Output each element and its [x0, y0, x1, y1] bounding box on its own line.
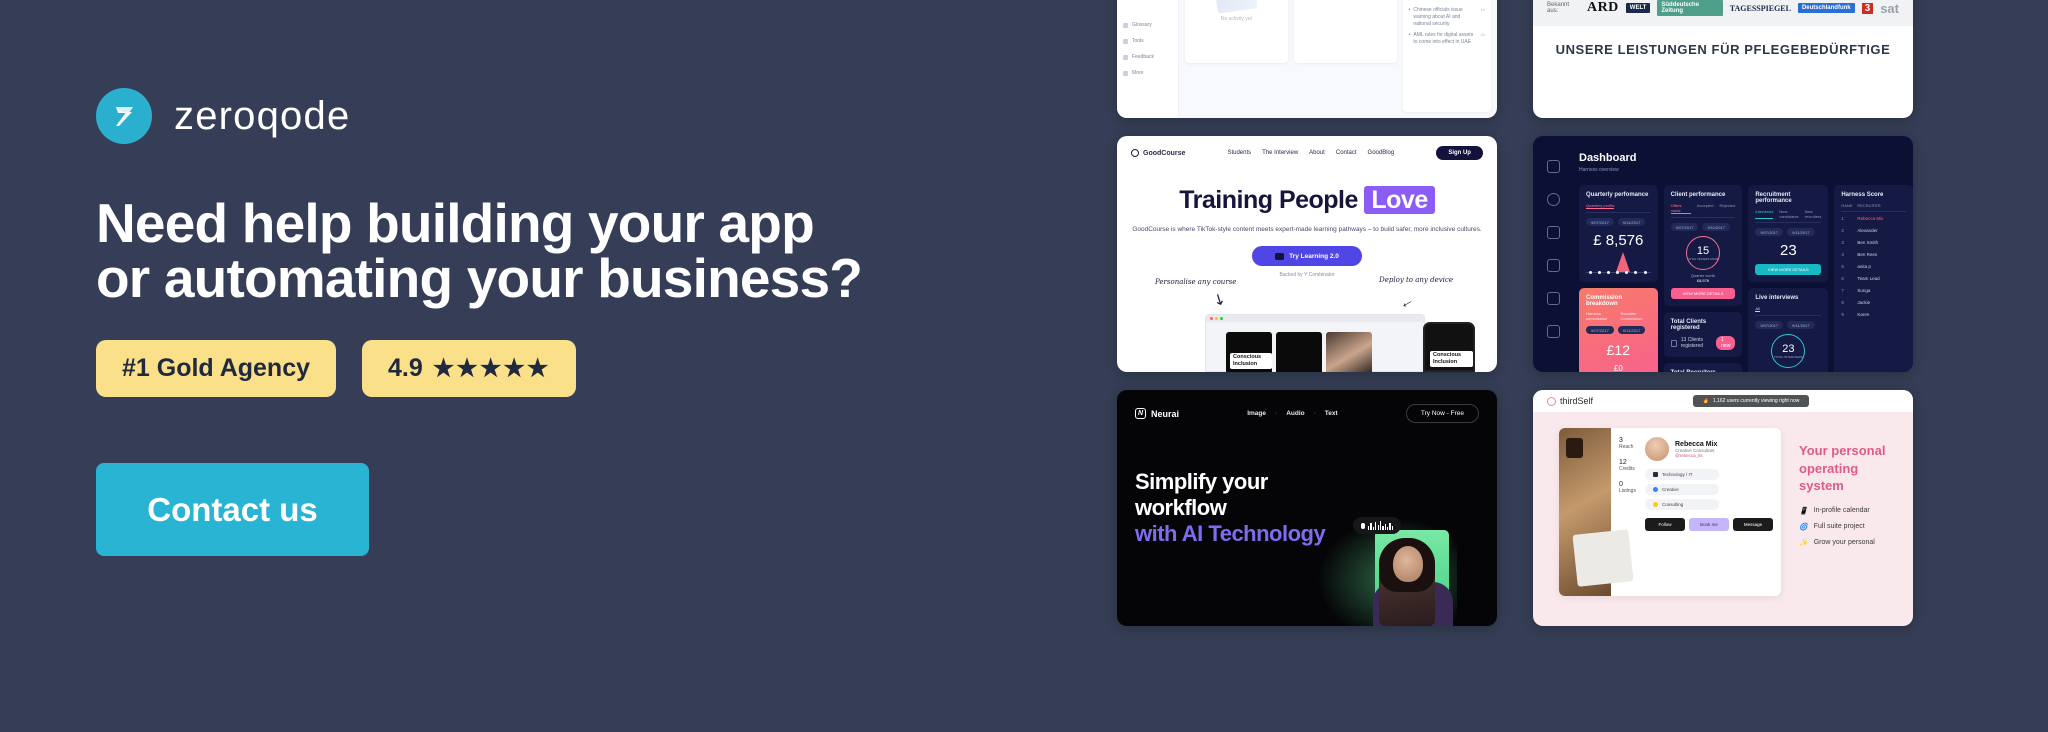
peak-shape	[1616, 252, 1630, 272]
try-learning-button[interactable]: Try Learning 2.0	[1252, 246, 1362, 266]
press-label: Bekannt aus:	[1547, 2, 1580, 14]
circle-logo-icon	[1131, 149, 1139, 157]
people-icon[interactable]	[1547, 292, 1560, 305]
nav-audio[interactable]: Audio	[1286, 410, 1304, 417]
audio-waveform-chip	[1353, 517, 1401, 534]
column-recruiter: RECRUITER	[1857, 203, 1880, 208]
sparkline-chart	[1586, 253, 1651, 275]
slide-card-text	[1276, 332, 1322, 372]
slide-card: Conscious Inclusion	[1226, 332, 1272, 372]
profile-info: 3Reach 12Credits 0Listings Rebecca Mix C…	[1611, 428, 1781, 596]
stat-reach: 3Reach	[1619, 437, 1643, 450]
dashboard-subtitle: Harness overview	[1579, 167, 1913, 173]
view-more-details-button[interactable]: VIEW MORE DETAILS	[1755, 264, 1821, 275]
offers-ring-chart: 15TOTAL OFFERS MADE	[1686, 236, 1720, 270]
portfolio-gallery: Glossary Tools Feedback More Metis$0.87 …	[1117, 0, 2048, 732]
headline-plain: Training People	[1179, 186, 1358, 214]
sat1-mark-icon: 3	[1862, 3, 1874, 14]
circle-logo-icon	[1547, 397, 1556, 406]
panel-title: Client performance	[1671, 192, 1736, 198]
tagesspiegel-logo: TAGESSPIEGEL	[1730, 4, 1791, 13]
tag-creative[interactable]: Creative	[1645, 484, 1719, 495]
table-row: 6Team Lead	[1841, 272, 1906, 284]
thirdself-body: 3Reach 12Credits 0Listings Rebecca Mix C…	[1533, 412, 1913, 596]
column-rank: RANK	[1841, 203, 1857, 208]
note-deploy: Deploy to any device	[1379, 276, 1453, 286]
thirdself-navbar: thirdSelf 🔥1,162 users currently viewing…	[1533, 390, 1913, 412]
glossary-icon	[1123, 23, 1128, 28]
care-section-heading: UNSERE LEISTUNGEN FÜR PFLEGEBEDÜRFTIGE	[1533, 26, 1913, 73]
contact-us-button[interactable]: Contact us	[96, 463, 369, 556]
headline-line-1: Need help building your app	[96, 196, 1036, 251]
tools-icon	[1123, 39, 1128, 44]
dashboard-main: Dashboard Harness overview Quarterly per…	[1573, 136, 1913, 372]
dot-separator-icon: ·	[1314, 410, 1316, 417]
goodcourse-subhead: GoodCourse is where TikTok-style content…	[1131, 224, 1483, 235]
quarter-worth-value: £8,576	[1671, 278, 1736, 283]
crypto-body: Metis$0.87 BSC$0.84 Celo$0.60 Latest tra…	[1179, 0, 1497, 118]
feature-list: 📱In-profile calendar 🌀Full suite project…	[1799, 507, 1897, 547]
headline-line-1: Your personal	[1799, 442, 1897, 460]
list-item[interactable]: Chinese officials issue warning about AI…	[1409, 7, 1485, 27]
table-row: 8Jackie	[1841, 296, 1906, 308]
date-from[interactable]: 9/07/2017	[1586, 218, 1614, 226]
feature-calendar: 📱In-profile calendar	[1799, 507, 1897, 515]
feature-grow: ✨Grow your personal	[1799, 539, 1897, 547]
microphone-icon	[1361, 523, 1365, 529]
phone-mockup: Conscious Inclusion	[1423, 322, 1475, 372]
tag-consulting[interactable]: Consulting	[1645, 499, 1719, 510]
crypto-news-panel: Top crypto news Here are the Top 5 ChatG…	[1403, 0, 1491, 112]
portfolio-card-goodcourse[interactable]: GoodCourse Students The Interview About …	[1117, 136, 1497, 372]
slide-caption: Conscious Inclusion	[1430, 351, 1473, 367]
profile-name: Rebecca Mix	[1675, 441, 1717, 448]
page-title: Need help building your app or automatin…	[96, 196, 1036, 306]
column-quarterly: Quarterly perfomance Quarterly profits 9…	[1579, 185, 1658, 372]
brand-name: zeroqode	[174, 94, 350, 139]
date-to[interactable]: 9/11/2017	[1618, 218, 1646, 226]
slide-caption: Conscious Inclusion	[1230, 353, 1272, 369]
commission-tabs: Harness commissionRecruiter Commission	[1586, 311, 1651, 321]
date-from[interactable]: 9/07/2017	[1586, 326, 1614, 334]
profile-tags: Technology / IT Creative Consulting	[1645, 469, 1773, 510]
sidebar-item-glossary[interactable]: Glossary	[1123, 22, 1172, 28]
neurai-mark-icon: N	[1135, 408, 1146, 419]
dashboard-title: Dashboard	[1579, 152, 1913, 164]
follow-button[interactable]: Follow	[1645, 518, 1685, 531]
list-item[interactable]: First Mover Americas: Bitcoin Slumps Bac…	[1409, 0, 1485, 2]
profile-role: Creative Consultant	[1675, 448, 1717, 453]
status-badge-rating: 4.9 ★★★★★	[362, 340, 576, 397]
nav-about[interactable]: About	[1309, 150, 1325, 156]
panel-title: Live interviews	[1755, 295, 1821, 301]
dashboard-sidebar	[1533, 136, 1573, 372]
table-row: 9Karen	[1841, 308, 1906, 320]
slide-card-video	[1326, 332, 1372, 372]
portfolio-card-pflege-care[interactable]: Bekannt aus: ARD WELT Süddeutsche Zeitun…	[1533, 0, 1913, 118]
recruitment-value: 23	[1755, 242, 1821, 259]
portfolio-card-harness-dashboard[interactable]: Dashboard Harness overview Quarterly per…	[1533, 136, 1913, 372]
nav-goodblog[interactable]: GoodBlog	[1368, 150, 1395, 156]
goodcourse-navbar: GoodCourse Students The Interview About …	[1131, 146, 1483, 160]
crypto-sidebar: Glossary Tools Feedback More	[1117, 0, 1179, 118]
portfolio-card-neurai[interactable]: NNeurai Image· Audio· Text Try Now - Fre…	[1117, 390, 1497, 626]
nav-students[interactable]: Students	[1227, 150, 1251, 156]
stat-credits: 12Credits	[1619, 459, 1643, 472]
dashboard-grid: Quarterly perfomance Quarterly profits 9…	[1579, 185, 1913, 372]
thirdself-copy: Your personal operating system 📱In-profi…	[1799, 428, 1897, 596]
panel-title: Total Clients registered	[1671, 319, 1736, 331]
commission-value: £12	[1586, 342, 1651, 358]
quarterly-value: £ 8,576	[1586, 232, 1651, 249]
date-from[interactable]: 9/07/2017	[1671, 223, 1699, 231]
total-recruiters-panel: Total Recruiters registered 9 Recruiters…	[1664, 363, 1743, 372]
panel-title: Recruitment performance	[1755, 192, 1821, 204]
minimize-icon	[1215, 317, 1218, 320]
table-row: 4Ben Rees	[1841, 248, 1906, 260]
panel-title: Total Recruiters registered	[1671, 370, 1736, 372]
column-recruitment: Recruitment performance InterviewsNew ca…	[1748, 185, 1828, 372]
nav-text[interactable]: Text	[1325, 410, 1338, 417]
neurai-logo[interactable]: NNeurai	[1135, 408, 1179, 419]
tag-technology[interactable]: Technology / IT	[1645, 469, 1719, 480]
ard-logo: ARD	[1587, 0, 1619, 16]
table-row: 3Ben Smith	[1841, 236, 1906, 248]
profile-handle: @rebecca_its	[1675, 453, 1717, 458]
table-row: 1Rebecca Mix	[1841, 212, 1906, 224]
maximize-icon	[1220, 317, 1223, 320]
tab-quarterly-profits[interactable]: Quarterly profits	[1586, 203, 1614, 209]
date-range: 9/07/20179/11/2017	[1586, 326, 1651, 334]
commission-outstanding: £0	[1586, 364, 1651, 372]
spiral-icon: 🌀	[1799, 523, 1808, 531]
arrow-icon: ↓	[1398, 296, 1416, 311]
neurai-navbar: NNeurai Image· Audio· Text Try Now - Fre…	[1135, 404, 1479, 423]
interviews-ring-chart: 23TOTAL INTERVIEWS	[1771, 334, 1805, 368]
empty-state-label: No activity yet	[1221, 16, 1252, 22]
sat-logo: sat	[1880, 1, 1899, 16]
date-to[interactable]: 9/11/2017	[1787, 228, 1815, 236]
waveform-icon	[1368, 521, 1393, 530]
flame-icon: 🔥	[1703, 398, 1709, 404]
goodcourse-nav-links: Students The Interview About Contact Goo…	[1227, 150, 1394, 156]
commission-breakdown-panel: Commission breakdown Harness commissionR…	[1579, 288, 1658, 372]
signup-button[interactable]: Sign Up	[1436, 146, 1483, 160]
hero-section: zeroqode Need help building your app or …	[0, 0, 1117, 732]
star-rating-icon: ★★★★★	[433, 354, 551, 383]
panel-tabs: Quarterly profits	[1586, 203, 1651, 213]
goodcourse-device-stage: Conscious Inclusion Conscious Inclusion	[1117, 310, 1497, 372]
interviews-caption: TOTAL INTERVIEWS	[1774, 355, 1803, 359]
dot-separator-icon: ·	[1275, 410, 1277, 417]
headline-line-2: operating system	[1799, 460, 1897, 495]
tab-recruiter-commission[interactable]: Recruiter Commission	[1620, 311, 1650, 321]
offers-caption: TOTAL OFFERS MADE	[1687, 257, 1719, 261]
welt-logo: WELT	[1626, 3, 1651, 13]
close-icon	[1210, 317, 1213, 320]
date-range: 9/07/20179/11/2017	[1671, 223, 1736, 231]
message-button[interactable]: Message	[1733, 518, 1773, 531]
note-personalise: Personalise any course	[1155, 278, 1236, 288]
status-badge-gold-agency: #1 Gold Agency	[96, 340, 336, 397]
panel-tabs: InterviewsNew candidatesNew recruiters	[1755, 209, 1821, 223]
panel-tabs: Offers madeAcceptedRejected	[1671, 203, 1736, 218]
rating-value: 4.9	[388, 354, 423, 383]
arrow-icon: ↘	[1210, 288, 1230, 310]
sidebar-item-feedback[interactable]: Feedback	[1123, 54, 1172, 60]
tab-rejected[interactable]: Rejected	[1720, 203, 1736, 214]
panel-title: Harness Score	[1841, 192, 1906, 198]
sidebar-item-tools[interactable]: Tools	[1123, 38, 1172, 44]
sidebar-item-label: Glossary	[1132, 22, 1152, 28]
table-row: 5anita p	[1841, 260, 1906, 272]
feedback-icon	[1123, 55, 1128, 60]
press-logo-strip: Bekannt aus: ARD WELT Süddeutsche Zeitun…	[1533, 0, 1913, 26]
nav-the-interview[interactable]: The Interview	[1262, 150, 1298, 156]
stat-listings: 0Listings	[1619, 481, 1643, 494]
avatar	[1645, 437, 1669, 461]
date-range: 9/07/20179/11/2017	[1586, 218, 1651, 226]
harness-score-panel: Harness Score RANKRECRUITER 1Rebecca Mix…	[1834, 185, 1913, 372]
panel-title: Commission breakdown	[1586, 295, 1651, 307]
table-row: 7Sunga	[1841, 284, 1906, 296]
profile-header: Rebecca Mix Creative Consultant @rebecca…	[1645, 437, 1773, 461]
feature-project: 🌀Full suite project	[1799, 523, 1897, 531]
panel-title: Quarterly perfomance	[1586, 192, 1651, 198]
profile-actions: Follow Book me Message	[1645, 518, 1773, 531]
live-viewers-banner: 🔥1,162 users currently viewing right now	[1693, 395, 1810, 407]
goodcourse-logo[interactable]: GoodCourse	[1131, 149, 1185, 157]
profile-card: 3Reach 12Credits 0Listings Rebecca Mix C…	[1559, 428, 1781, 596]
neurai-nav-links: Image· Audio· Text	[1247, 410, 1337, 417]
interviews-value: 23	[1782, 343, 1794, 355]
network-icon[interactable]	[1547, 226, 1560, 239]
date-range: 9/07/20179/11/2017	[1755, 228, 1821, 236]
technology-icon	[1653, 472, 1658, 477]
person-face	[1393, 546, 1423, 582]
quarterly-performance-panel: Quarterly perfomance Quarterly profits 9…	[1579, 185, 1658, 282]
news-list: Here are the Top 5 ChatGPT alternatives4…	[1409, 0, 1485, 46]
sidebar-item-more[interactable]: More	[1123, 70, 1172, 76]
profile-stats: 3Reach 12Credits 0Listings	[1619, 437, 1643, 503]
goodcourse-headline: Training People Love	[1131, 186, 1483, 215]
zeroqode-z-logo-icon	[96, 88, 152, 144]
briefcase-icon	[1671, 340, 1677, 347]
deutschlandfunk-logo: Deutschlandfunk	[1798, 3, 1855, 13]
total-clients-panel: Total Clients registered 13 Clients regi…	[1664, 312, 1743, 357]
empty-box-icon	[1215, 0, 1258, 14]
slide-row: Conscious Inclusion	[1206, 322, 1424, 372]
hero-page: zeroqode Need help building your app or …	[0, 0, 2048, 732]
new-badge: 1 new	[1716, 336, 1735, 350]
date-from[interactable]: 9/07/2017	[1755, 228, 1783, 236]
date-range: 9/07/20179/11/2017	[1755, 321, 1821, 329]
live-interviews-panel: Live interviews All 9/07/20179/11/2017 2…	[1748, 288, 1828, 372]
table-header: RANKRECRUITER	[1841, 203, 1906, 212]
thirdself-logo[interactable]: thirdSelf	[1547, 396, 1593, 406]
date-to[interactable]: 9/11/2017	[1787, 321, 1815, 329]
tab-offers-made[interactable]: Offers made	[1671, 203, 1691, 214]
client-performance-panel: Client performance Offers madeAcceptedRe…	[1664, 185, 1743, 306]
tab-new-candidates[interactable]: New candidates	[1779, 209, 1798, 219]
tab-interviews[interactable]: Interviews	[1755, 209, 1773, 219]
home-icon[interactable]	[1547, 160, 1560, 173]
creative-icon	[1653, 487, 1658, 492]
more-icon	[1123, 71, 1128, 76]
tab-harness-commission[interactable]: Harness commission	[1586, 311, 1614, 321]
browser-mockup: Conscious Inclusion	[1205, 314, 1425, 372]
date-to[interactable]: 9/11/2017	[1702, 223, 1730, 231]
tab-new-recruiters[interactable]: New recruiters	[1805, 209, 1822, 219]
portfolio-card-crypto-dashboard[interactable]: Glossary Tools Feedback More Metis$0.87 …	[1117, 0, 1497, 118]
chart-icon[interactable]	[1547, 325, 1560, 338]
try-now-button[interactable]: Try Now - Free	[1406, 404, 1479, 423]
total-clients-text: 13 Clients registered	[1681, 337, 1712, 349]
sidebar-item-label: Feedback	[1132, 54, 1154, 60]
thirdself-headline: Your personal operating system	[1799, 442, 1897, 495]
sidebar-item-label: Tools	[1132, 38, 1144, 44]
tab-accepted[interactable]: Accepted	[1697, 203, 1714, 214]
badge-row: #1 Gold Agency 4.9 ★★★★★	[96, 340, 1117, 397]
nav-contact[interactable]: Contact	[1336, 150, 1357, 156]
metamask-actions-panel: Metamask actions Add tokens to Metamask …	[1294, 0, 1397, 63]
date-to[interactable]: 9/11/2017	[1618, 326, 1646, 334]
axis-line	[1586, 272, 1651, 273]
target-icon[interactable]	[1547, 193, 1560, 206]
tab-all[interactable]: All	[1755, 306, 1759, 312]
headline-highlight: Love	[1364, 186, 1434, 214]
brand-logo[interactable]: zeroqode	[96, 88, 1117, 144]
desk-photo	[1559, 428, 1611, 596]
panel-tabs: All	[1755, 306, 1821, 316]
book-me-button[interactable]: Book me	[1689, 518, 1729, 531]
portfolio-card-thirdself[interactable]: thirdSelf 🔥1,162 users currently viewing…	[1533, 390, 1913, 626]
sidebar-item-label: More	[1132, 70, 1143, 76]
briefcase-icon[interactable]	[1547, 259, 1560, 272]
coffee-cup-decor	[1566, 438, 1583, 458]
notepad-decor	[1572, 529, 1633, 587]
view-more-details-button[interactable]: VIEW MORE DETAILS	[1671, 288, 1736, 299]
list-item[interactable]: AML rules for digital assets to come int…	[1409, 32, 1485, 46]
sparkle-icon: ✨	[1799, 539, 1808, 547]
gold-agency-label: #1 Gold Agency	[122, 354, 310, 383]
table-row: 2Alexander	[1841, 224, 1906, 236]
sueddeutsche-logo: Süddeutsche Zeitung	[1657, 0, 1722, 16]
headline-line-2: or automating your business?	[96, 251, 1036, 306]
latest-transactions-panel: Latest transactions No activity yet	[1185, 0, 1288, 63]
browser-titlebar	[1206, 315, 1424, 322]
play-icon	[1275, 253, 1284, 260]
nav-image[interactable]: Image	[1247, 410, 1266, 417]
empty-state: No activity yet	[1191, 0, 1282, 22]
consulting-icon	[1653, 502, 1658, 507]
headline-line-1: Simplify your	[1135, 469, 1479, 495]
column-client: Client performance Offers madeAcceptedRe…	[1664, 185, 1743, 372]
recruitment-performance-panel: Recruitment performance InterviewsNew ca…	[1748, 185, 1828, 282]
calendar-icon: 📱	[1799, 507, 1808, 515]
offers-value: 15	[1697, 245, 1709, 257]
date-from[interactable]: 9/07/2017	[1755, 321, 1783, 329]
